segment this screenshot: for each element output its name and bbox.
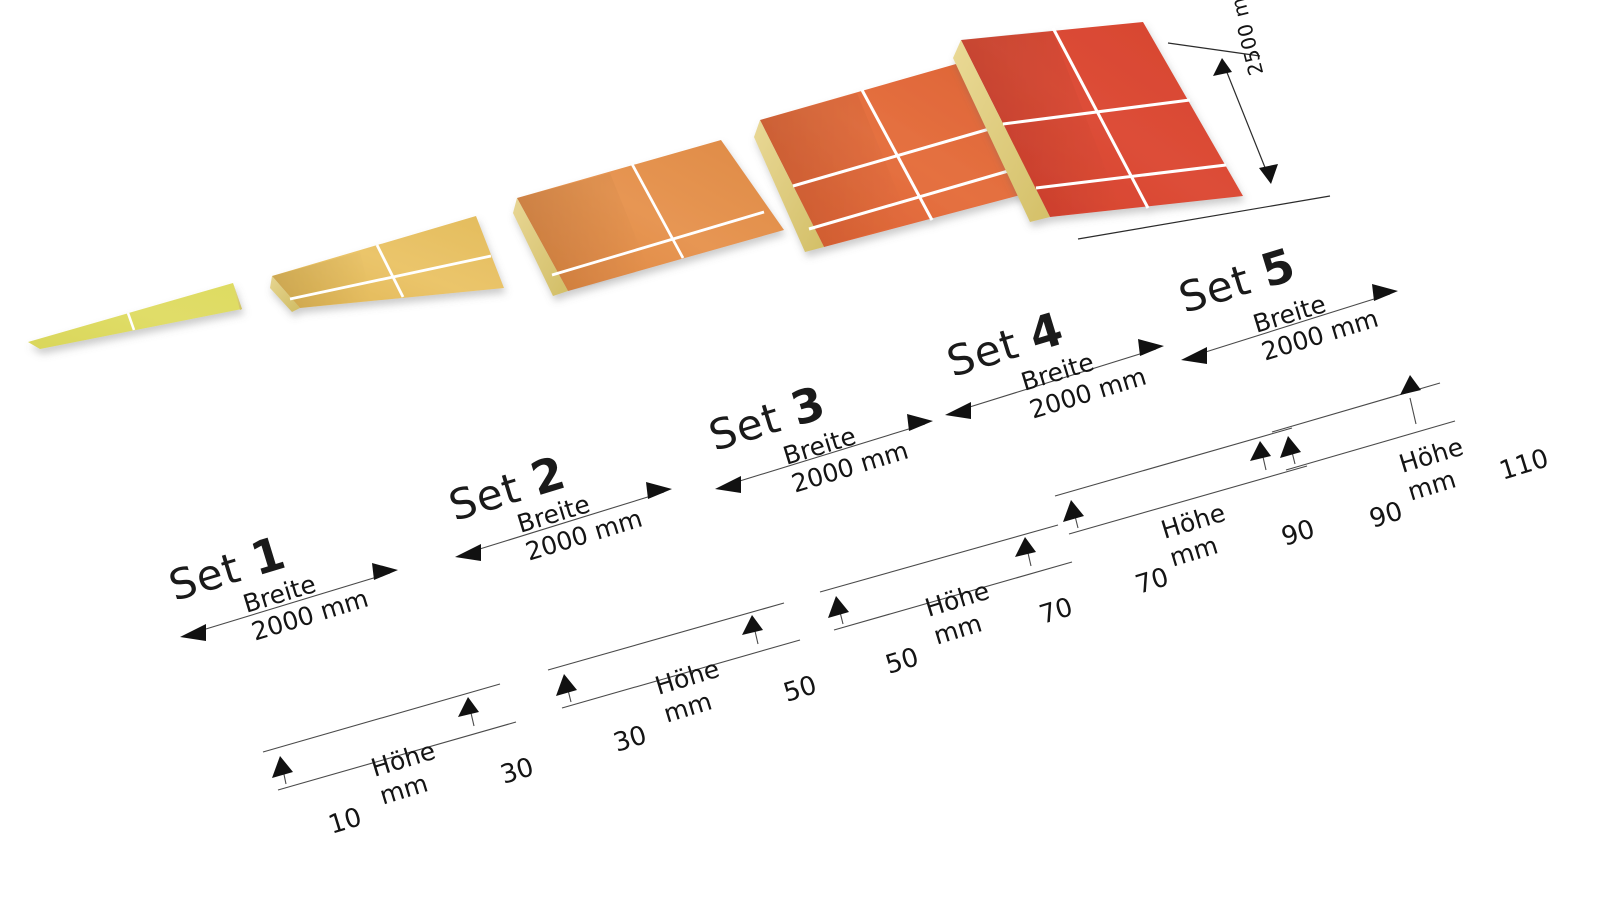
- hoehe-dim-set-5: [1272, 375, 1455, 470]
- hoehe-dim-set-2: [548, 603, 800, 708]
- depth-arrow-bottom: [1259, 164, 1278, 184]
- depth-arrow-top: [1213, 58, 1232, 76]
- ramp-top-face: [28, 283, 242, 349]
- breite-arrow-set-3: [715, 414, 933, 493]
- ramp-geometry-svg: [0, 0, 1600, 901]
- breite-arrow-set-5: [1181, 284, 1398, 364]
- breite-arrow-set-2: [455, 482, 672, 561]
- hoehe-dim-set-1: [263, 684, 516, 790]
- depth-dim-line: [1222, 60, 1270, 180]
- depth-ext-line-top: [1168, 43, 1260, 56]
- ramp-set-3: [513, 140, 784, 296]
- hoehe-dim-set-4: [1055, 428, 1307, 534]
- breite-arrow-set-4: [945, 339, 1164, 419]
- dimension-lines: [180, 284, 1455, 790]
- diagram-canvas: 2500 mm Set 1 Breite 2000 mm Höhe mm 10 …: [0, 0, 1600, 901]
- hoehe-dim-set-3: [820, 525, 1072, 630]
- breite-arrow-set-1: [180, 563, 398, 641]
- ramp-set-2: [270, 216, 504, 312]
- ramp-set-1: [28, 283, 242, 349]
